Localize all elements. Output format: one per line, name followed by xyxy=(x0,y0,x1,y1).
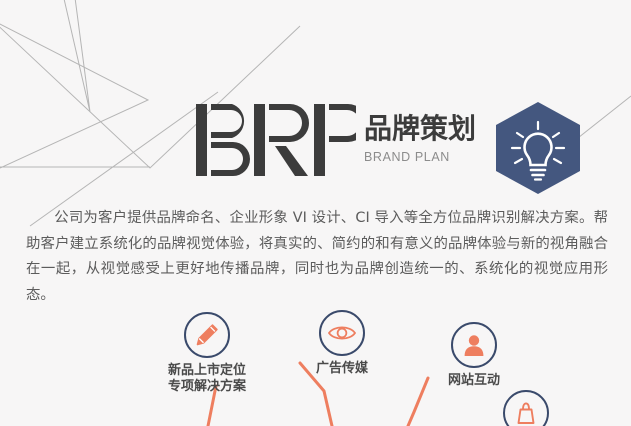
deco-chevron-large xyxy=(0,20,148,168)
chinese-title: 品牌策划 xyxy=(364,112,496,146)
caption-line-1: 网站互动 xyxy=(428,373,520,389)
caption-line-1: 新品上市定位 xyxy=(152,363,262,379)
icon-ring xyxy=(319,310,365,356)
feature-item[interactable] xyxy=(496,390,556,426)
hexagon-badge xyxy=(492,100,584,196)
brp-wordmark: BRP xyxy=(196,104,356,176)
shopping-bag-icon xyxy=(513,400,539,426)
paragraph-text: 公司为客户提供品牌命名、企业形象 VI 设计、CI 导入等全方位品牌识别解决方案… xyxy=(26,210,608,303)
logo-lockup: BRP 品牌策划 BRAND PLAN xyxy=(196,104,586,190)
feature-caption: 网站互动 xyxy=(428,373,520,389)
feature-item[interactable]: 新品上市定位 专项解决方案 xyxy=(152,312,262,394)
feature-caption: 新品上市定位 专项解决方案 xyxy=(152,363,262,394)
deco-chevron-narrow xyxy=(62,0,90,112)
brand-plan-banner: BRP 品牌策划 BRAND PLAN xyxy=(0,0,631,426)
icon-ring xyxy=(451,322,497,368)
english-subtitle: BRAND PLAN xyxy=(364,150,496,164)
person-icon xyxy=(461,332,487,358)
icon-ring xyxy=(184,312,230,358)
feature-icon-row: 新品上市定位 专项解决方案 广告传媒 xyxy=(0,306,631,426)
body-paragraph: 公司为客户提供品牌命名、企业形象 VI 设计、CI 导入等全方位品牌识别解决方案… xyxy=(26,206,608,308)
feature-item[interactable]: 广告传媒 xyxy=(296,310,388,377)
icon-ring xyxy=(503,390,549,426)
caption-line-2: 专项解决方案 xyxy=(152,379,262,395)
caption-line-1: 广告传媒 xyxy=(296,361,388,377)
eye-icon xyxy=(327,322,357,344)
feature-caption: 广告传媒 xyxy=(296,361,388,377)
pencil-icon xyxy=(194,322,220,348)
feature-item[interactable]: 网站互动 xyxy=(428,322,520,389)
title-block: 品牌策划 BRAND PLAN xyxy=(364,112,496,164)
